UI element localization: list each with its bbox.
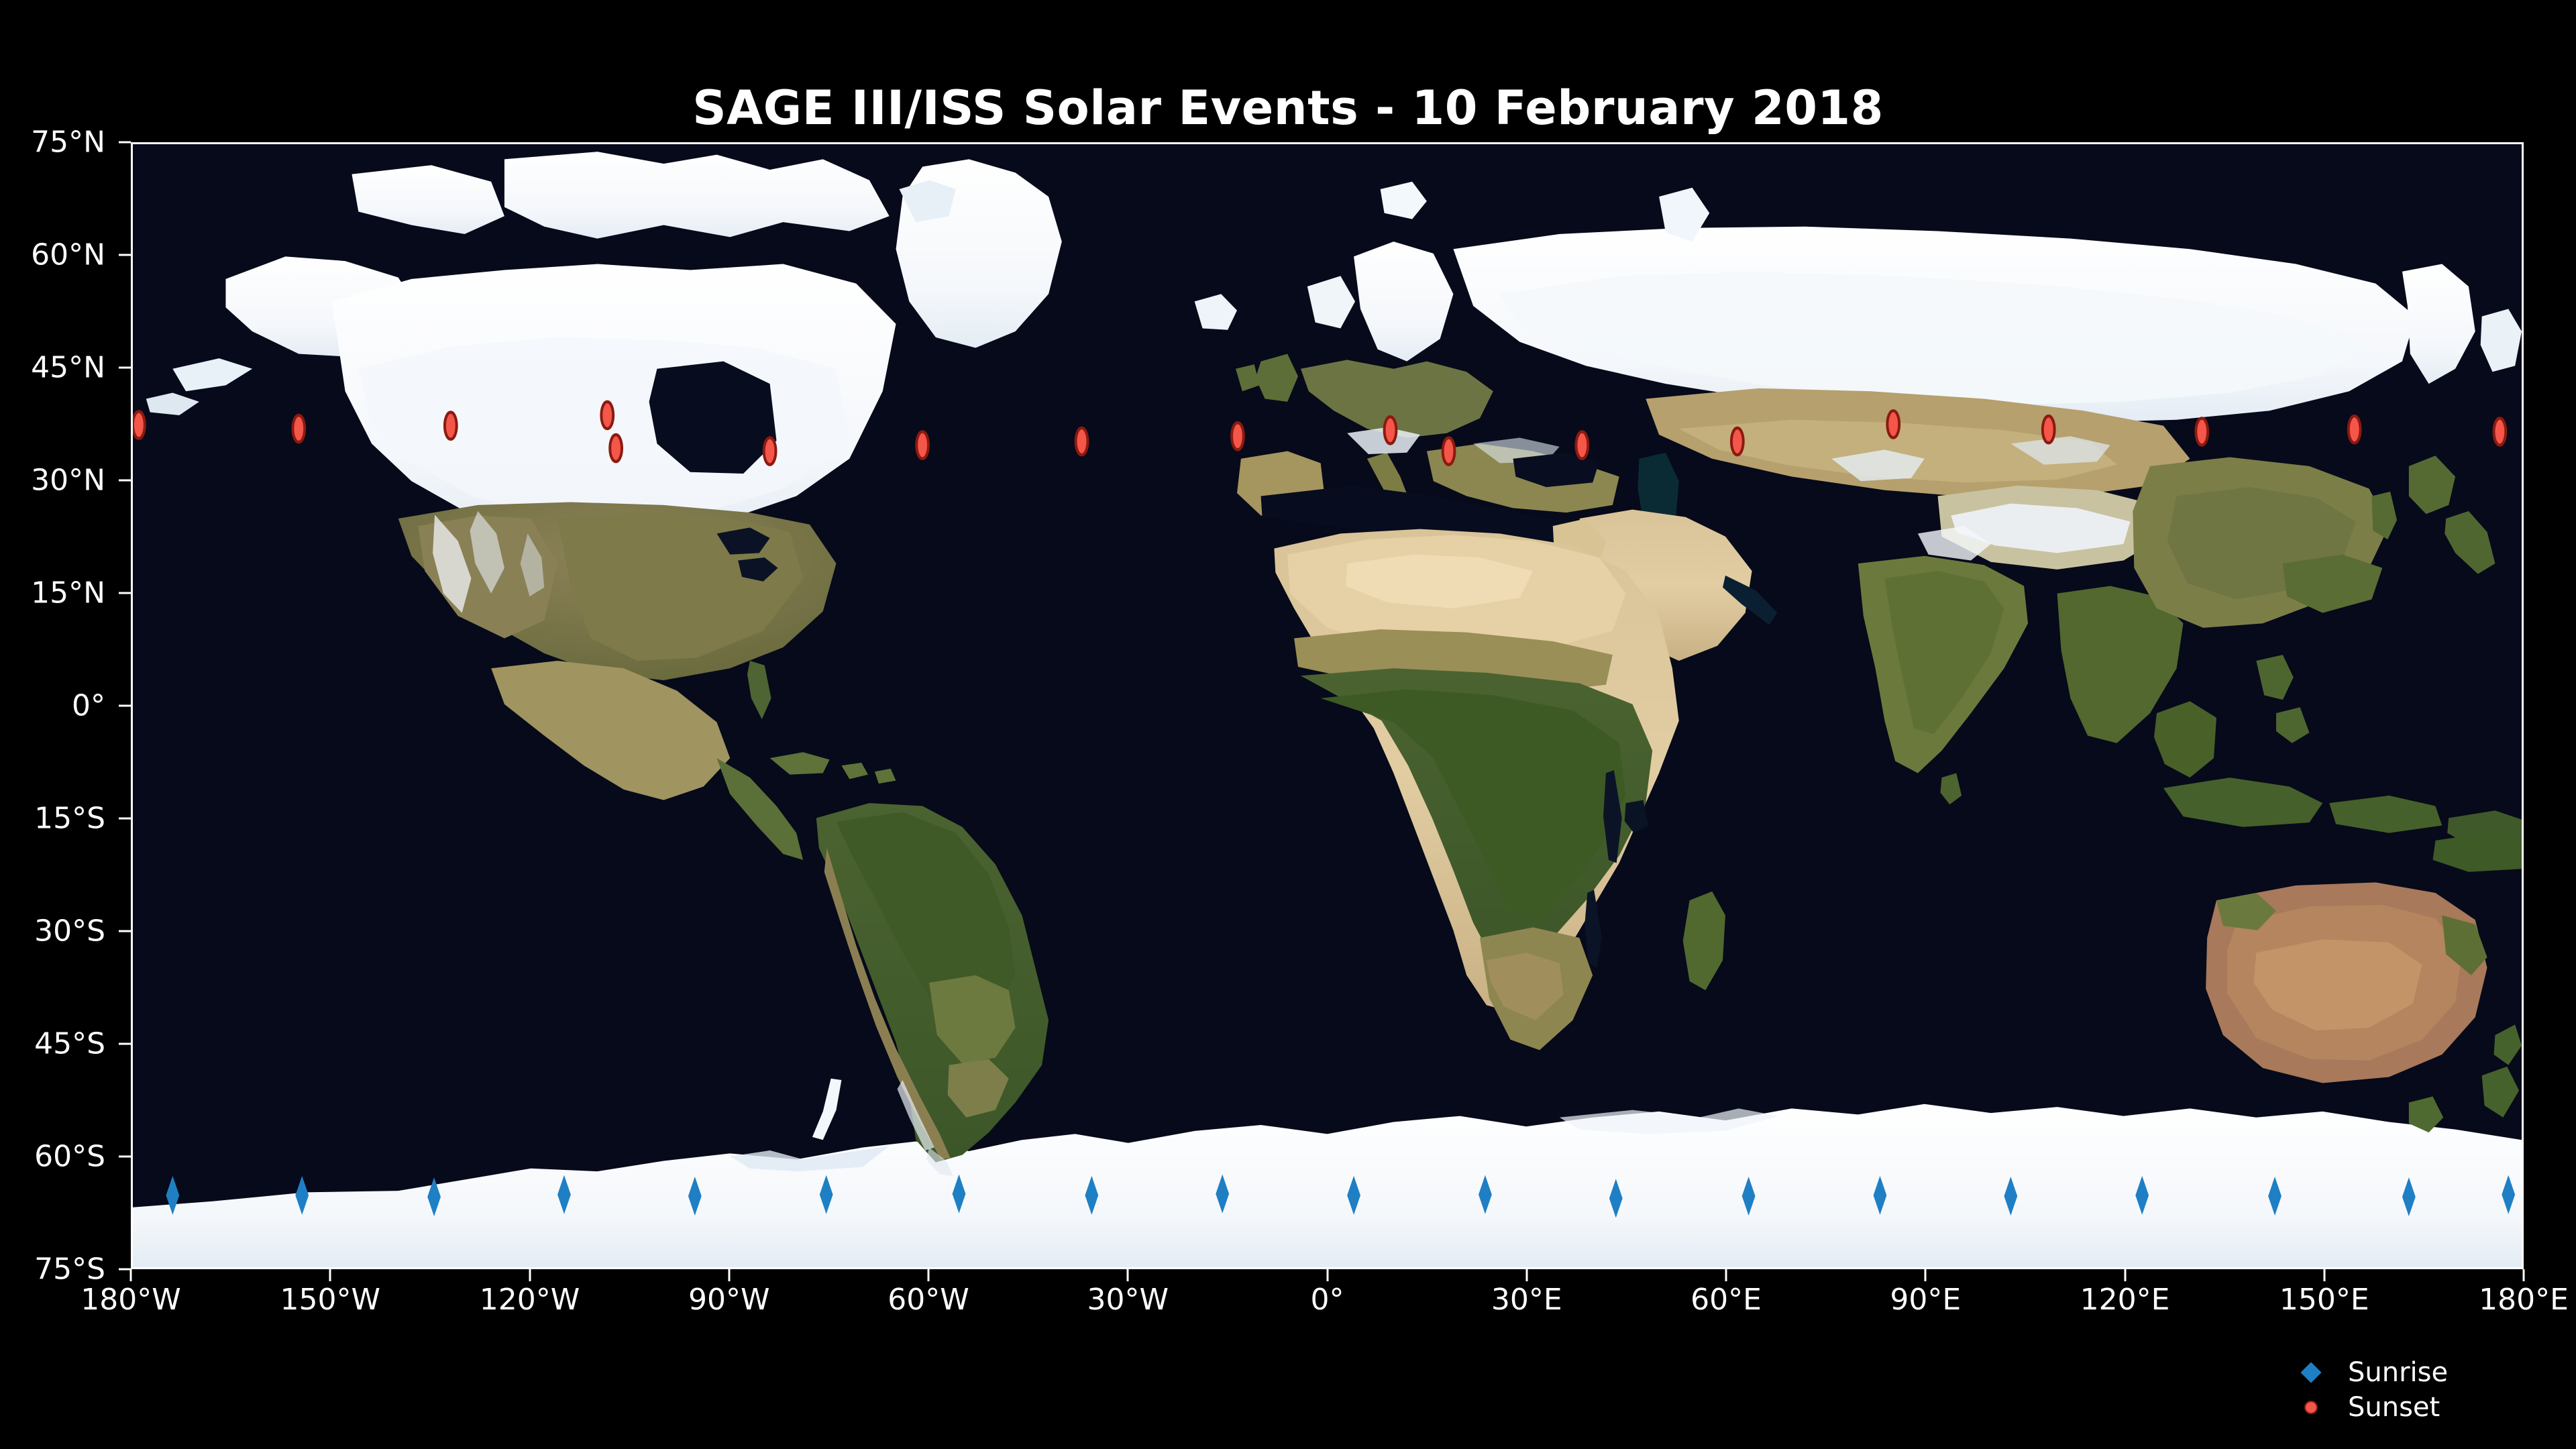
- latitude-tick-label: 15°N: [0, 576, 105, 610]
- longitude-tick-mark: [928, 1269, 930, 1281]
- legend-label-sunrise: Sunrise: [2341, 1357, 2448, 1388]
- longitude-tick-label: 180°W: [80, 1283, 181, 1317]
- longitude-tick-mark: [1925, 1269, 1927, 1281]
- latitude-tick-mark: [119, 480, 131, 482]
- sunrise-marker[interactable]: [1085, 1176, 1098, 1215]
- sunset-marker[interactable]: [445, 413, 457, 439]
- sunrise-marker[interactable]: [953, 1175, 966, 1214]
- latitude-tick-label: 75°N: [0, 125, 105, 160]
- sunrise-marker[interactable]: [1216, 1175, 1229, 1214]
- sunrise-marker[interactable]: [1347, 1176, 1360, 1215]
- longitude-tick-label: 150°W: [280, 1283, 381, 1317]
- sunrise-diamond-icon: [2281, 1365, 2341, 1380]
- sunset-marker[interactable]: [133, 411, 145, 438]
- longitude-tick-label: 90°W: [688, 1283, 770, 1317]
- latitude-tick-label: 60°N: [0, 238, 105, 272]
- sunrise-marker[interactable]: [295, 1176, 309, 1215]
- longitude-tick-label: 60°W: [888, 1283, 969, 1317]
- latitude-tick-mark: [119, 254, 131, 256]
- sunset-circle-icon: [2281, 1401, 2341, 1414]
- sunset-marker[interactable]: [601, 402, 613, 429]
- longitude-tick-label: 180°E: [2479, 1283, 2569, 1317]
- longitude-tick-label: 150°E: [2279, 1283, 2369, 1317]
- sunset-marker[interactable]: [2043, 416, 2055, 443]
- page-title: SAGE III/ISS Solar Events - 10 February …: [0, 80, 2576, 136]
- latitude-tick-mark: [119, 367, 131, 369]
- sunset-marker[interactable]: [2196, 418, 2208, 445]
- longitude-tick-mark: [728, 1269, 730, 1281]
- sunrise-marker[interactable]: [1609, 1179, 1623, 1218]
- sunset-marker[interactable]: [1731, 428, 1743, 455]
- latitude-tick-mark: [119, 705, 131, 707]
- longitude-tick-mark: [529, 1269, 531, 1281]
- legend-item-sunset[interactable]: Sunset: [2281, 1390, 2563, 1425]
- sunset-marker[interactable]: [1443, 437, 1455, 464]
- longitude-tick-mark: [1525, 1269, 1527, 1281]
- sunrise-marker[interactable]: [2268, 1177, 2282, 1216]
- longitude-tick-mark: [1127, 1269, 1129, 1281]
- figure-canvas: SAGE III/ISS Solar Events - 10 February …: [0, 0, 2576, 1449]
- latitude-tick-label: 15°S: [0, 802, 105, 836]
- legend-item-sunrise[interactable]: Sunrise: [2281, 1355, 2563, 1390]
- legend-label-sunset: Sunset: [2341, 1392, 2440, 1423]
- sunrise-marker[interactable]: [427, 1177, 441, 1216]
- longitude-tick-mark: [130, 1269, 132, 1281]
- longitude-tick-mark: [1725, 1269, 1727, 1281]
- sunset-marker[interactable]: [2349, 416, 2361, 443]
- latitude-tick-label: 0°: [0, 689, 105, 723]
- longitude-tick-mark: [2323, 1269, 2325, 1281]
- sunset-marker[interactable]: [1576, 432, 1588, 459]
- longitude-tick-label: 120°W: [480, 1283, 580, 1317]
- latitude-tick-label: 75°S: [0, 1252, 105, 1287]
- longitude-tick-label: 60°E: [1690, 1283, 1762, 1317]
- latitude-tick-mark: [119, 142, 131, 144]
- sunrise-marker[interactable]: [557, 1175, 571, 1214]
- sunset-marker[interactable]: [1887, 411, 1899, 437]
- longitude-tick-label: 120°E: [2080, 1283, 2170, 1317]
- sunrise-marker[interactable]: [820, 1175, 833, 1214]
- longitude-tick-label: 0°: [1311, 1283, 1344, 1317]
- sunset-marker[interactable]: [1076, 428, 1088, 455]
- solar-event-markers[interactable]: [133, 144, 2522, 1267]
- latitude-tick-label: 45°N: [0, 351, 105, 385]
- longitude-tick-mark: [1326, 1269, 1328, 1281]
- sunrise-marker[interactable]: [2402, 1177, 2416, 1216]
- latitude-tick-mark: [119, 1269, 131, 1271]
- sunset-marker[interactable]: [292, 415, 305, 442]
- longitude-tick-mark: [329, 1269, 331, 1281]
- sunset-marker[interactable]: [764, 437, 776, 464]
- latitude-tick-label: 45°S: [0, 1027, 105, 1061]
- longitude-tick-mark: [2523, 1269, 2525, 1281]
- legend: Sunrise Sunset: [2281, 1355, 2563, 1425]
- sunrise-marker[interactable]: [2502, 1175, 2515, 1214]
- latitude-tick-mark: [119, 930, 131, 932]
- latitude-tick-label: 30°S: [0, 914, 105, 949]
- longitude-tick-label: 90°E: [1890, 1283, 1961, 1317]
- latitude-tick-mark: [119, 592, 131, 594]
- sunset-marker[interactable]: [1232, 423, 1244, 449]
- longitude-tick-mark: [2124, 1269, 2126, 1281]
- latitude-tick-mark: [119, 1156, 131, 1158]
- map-plot-area[interactable]: [131, 142, 2524, 1269]
- latitude-tick-mark: [119, 818, 131, 820]
- sunset-marker[interactable]: [1385, 417, 1397, 443]
- sunset-marker[interactable]: [610, 435, 622, 462]
- sunrise-marker[interactable]: [1479, 1175, 1492, 1214]
- sunset-marker[interactable]: [916, 432, 928, 459]
- sunrise-marker[interactable]: [2135, 1176, 2149, 1215]
- latitude-tick-label: 60°S: [0, 1140, 105, 1174]
- sunrise-marker[interactable]: [688, 1177, 702, 1216]
- sunrise-marker[interactable]: [1742, 1177, 1756, 1216]
- longitude-tick-label: 30°W: [1087, 1283, 1169, 1317]
- sunrise-marker[interactable]: [2004, 1177, 2017, 1216]
- latitude-tick-label: 30°N: [0, 464, 105, 498]
- sunset-marker[interactable]: [2493, 418, 2506, 445]
- latitude-tick-mark: [119, 1043, 131, 1045]
- sunrise-marker[interactable]: [166, 1176, 179, 1215]
- sunrise-marker[interactable]: [1874, 1176, 1887, 1215]
- longitude-tick-label: 30°E: [1491, 1283, 1562, 1317]
